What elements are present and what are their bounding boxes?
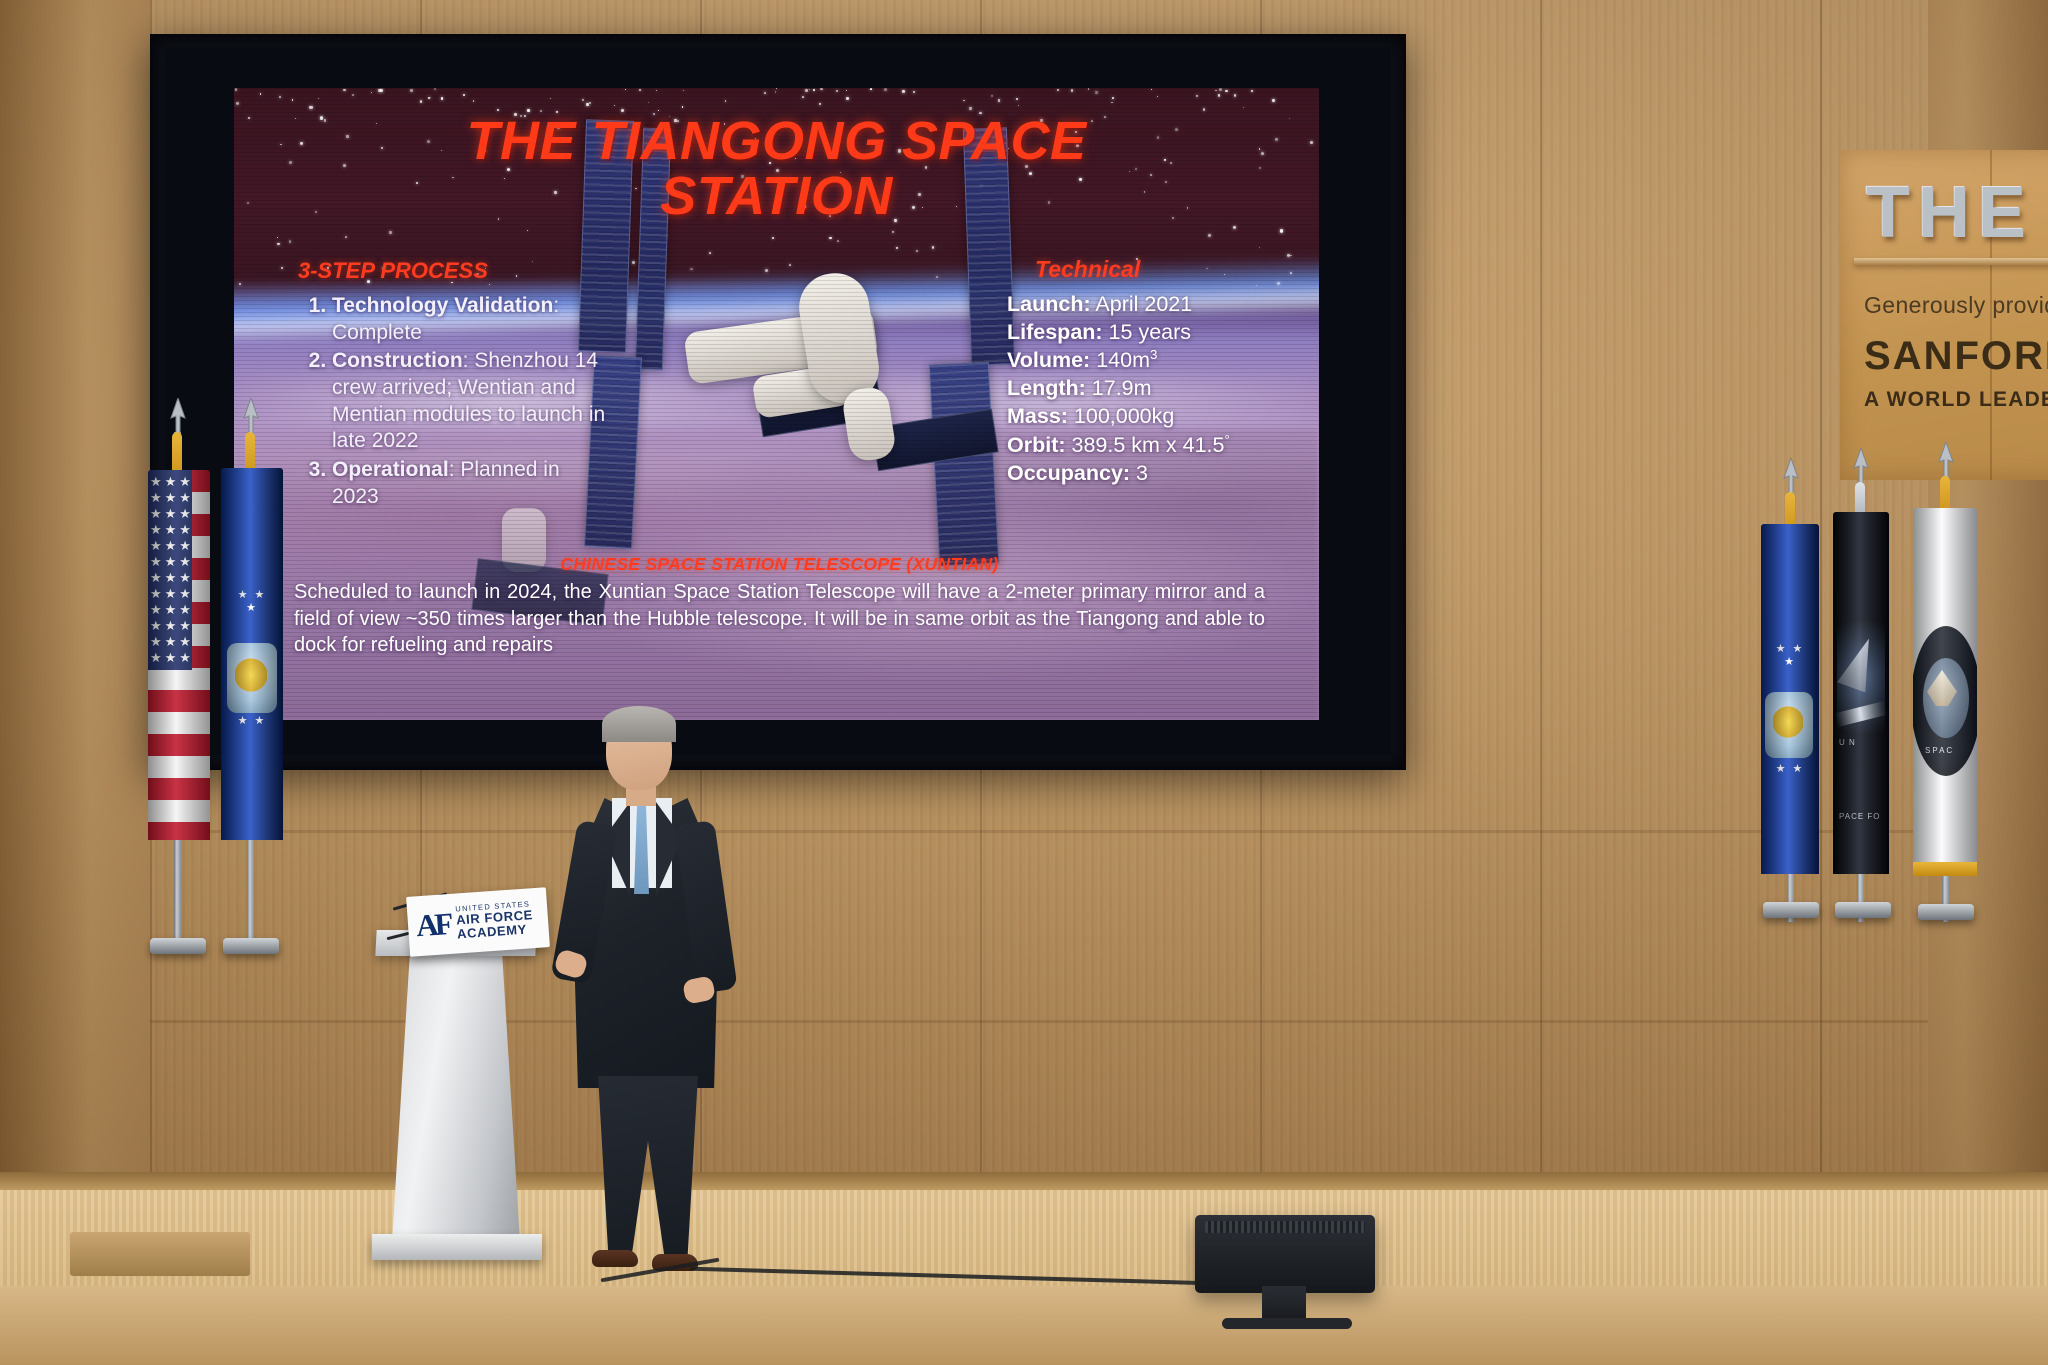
lectern-base bbox=[372, 1234, 542, 1260]
telescope-paragraph: Scheduled to launch in 2024, the Xuntian… bbox=[286, 579, 1273, 659]
spec-superscript: ° bbox=[1224, 432, 1229, 447]
spec-value: 140m bbox=[1090, 349, 1150, 373]
air-force-flag-cloth: ★ ★★ ★ ★ bbox=[221, 468, 283, 840]
lectern-body bbox=[392, 952, 520, 1242]
list-item: Technology Validation: Complete bbox=[332, 293, 612, 346]
space-force-flag-cloth: U N PACE FO bbox=[1833, 512, 1889, 874]
spec-value: 100,000kg bbox=[1068, 404, 1174, 428]
slide-left-panel: 3-STEP PROCESS Technology Validation: Co… bbox=[292, 258, 612, 512]
spec-value: 3 bbox=[1130, 461, 1148, 485]
technical-spec-list: Launch: April 2021Lifespan: 15 yearsVolu… bbox=[1007, 291, 1267, 487]
technical-heading: Technical bbox=[1035, 256, 1267, 283]
spec-value: 17.9m bbox=[1086, 376, 1152, 400]
spec-value: April 2021 bbox=[1091, 292, 1193, 316]
air-force-academy-logo-icon: AF bbox=[415, 906, 451, 944]
monitor-foot bbox=[1222, 1318, 1352, 1329]
list-item: Operational: Planned in 2023 bbox=[332, 457, 612, 510]
technical-spec-row: Orbit: 389.5 km x 41.5° bbox=[1007, 431, 1267, 460]
sign-world-leader-line: A WORLD LEADER bbox=[1864, 388, 2048, 412]
technical-spec-row: Volume: 140m3 bbox=[1007, 346, 1267, 375]
three-step-list: Technology Validation: Complete Construc… bbox=[292, 293, 612, 510]
sign-generously-line: Generously provided bbox=[1864, 292, 2048, 319]
spec-label: Length: bbox=[1007, 376, 1086, 400]
presenter bbox=[560, 710, 730, 1270]
slide-title: THE TIANGONG SPACE STATION bbox=[234, 114, 1319, 224]
presenter-shoe bbox=[592, 1250, 638, 1267]
donor-wall-sign: THE Generously provided SANFORD A WORLD … bbox=[1840, 150, 2048, 480]
spec-label: Volume: bbox=[1007, 349, 1090, 373]
left-panel-heading: 3-STEP PROCESS bbox=[292, 258, 612, 284]
placard-line-3: ACADEMY bbox=[457, 922, 535, 941]
slide-technical-panel: Technical Launch: April 2021Lifespan: 15… bbox=[1007, 256, 1267, 487]
spec-value: 389.5 km x 41.5 bbox=[1066, 433, 1225, 457]
sign-word-the: THE bbox=[1866, 172, 2034, 254]
spec-superscript: 3 bbox=[1150, 347, 1157, 362]
slide-title-line-2: STATION bbox=[234, 169, 1319, 224]
spec-label: Orbit: bbox=[1007, 433, 1066, 457]
spec-label: Occupancy: bbox=[1007, 461, 1130, 485]
space-command-flag-cloth: SPAC bbox=[1913, 508, 1977, 876]
step-3-bold: Operational bbox=[332, 458, 449, 481]
sign-sanford-line: SANFORD bbox=[1864, 334, 2048, 379]
side-table bbox=[70, 1232, 250, 1276]
slide-telescope-panel: CHINESE SPACE STATION TELESCOPE (XUNTIAN… bbox=[286, 554, 1273, 659]
presenter-legs bbox=[596, 1076, 700, 1258]
technical-spec-row: Lifespan: 15 years bbox=[1007, 319, 1267, 347]
telescope-heading: CHINESE SPACE STATION TELESCOPE (XUNTIAN… bbox=[286, 554, 1273, 575]
presentation-slide[interactable]: THE TIANGONG SPACE STATION 3-STEP PROCES… bbox=[234, 88, 1319, 720]
step-2-bold: Construction bbox=[332, 349, 463, 372]
spec-value: 15 years bbox=[1103, 320, 1191, 344]
lectern-placard-text: UNITED STATES AIR FORCE ACADEMY bbox=[455, 900, 534, 941]
spec-label: Launch: bbox=[1007, 292, 1091, 316]
technical-spec-row: Occupancy: 3 bbox=[1007, 460, 1267, 488]
spec-label: Lifespan: bbox=[1007, 320, 1103, 344]
slide-title-line-1: THE TIANGONG SPACE bbox=[234, 114, 1319, 169]
list-item: Construction: Shenzhou 14 crew arrived; … bbox=[332, 348, 612, 455]
stage-riser bbox=[0, 1286, 2048, 1365]
spec-label: Mass: bbox=[1007, 404, 1068, 428]
lectern-placard: AF UNITED STATES AIR FORCE ACADEMY bbox=[406, 887, 550, 957]
technical-spec-row: Launch: April 2021 bbox=[1007, 291, 1267, 319]
presenter-hair bbox=[602, 706, 676, 742]
technical-spec-row: Mass: 100,000kg bbox=[1007, 403, 1267, 431]
us-flag-cloth: ★★★★★★★★★★★★★★★★★★★★★★★★★★★★★★★★★★★★ bbox=[148, 470, 210, 840]
presentation-photo: THE TIANGONG SPACE STATION 3-STEP PROCES… bbox=[0, 0, 2048, 1365]
air-force-flag-cloth: ★ ★★ ★ ★ bbox=[1761, 524, 1819, 874]
step-1-bold: Technology Validation bbox=[332, 294, 553, 317]
sign-shelf bbox=[1854, 258, 2048, 265]
technical-spec-row: Length: 17.9m bbox=[1007, 375, 1267, 403]
